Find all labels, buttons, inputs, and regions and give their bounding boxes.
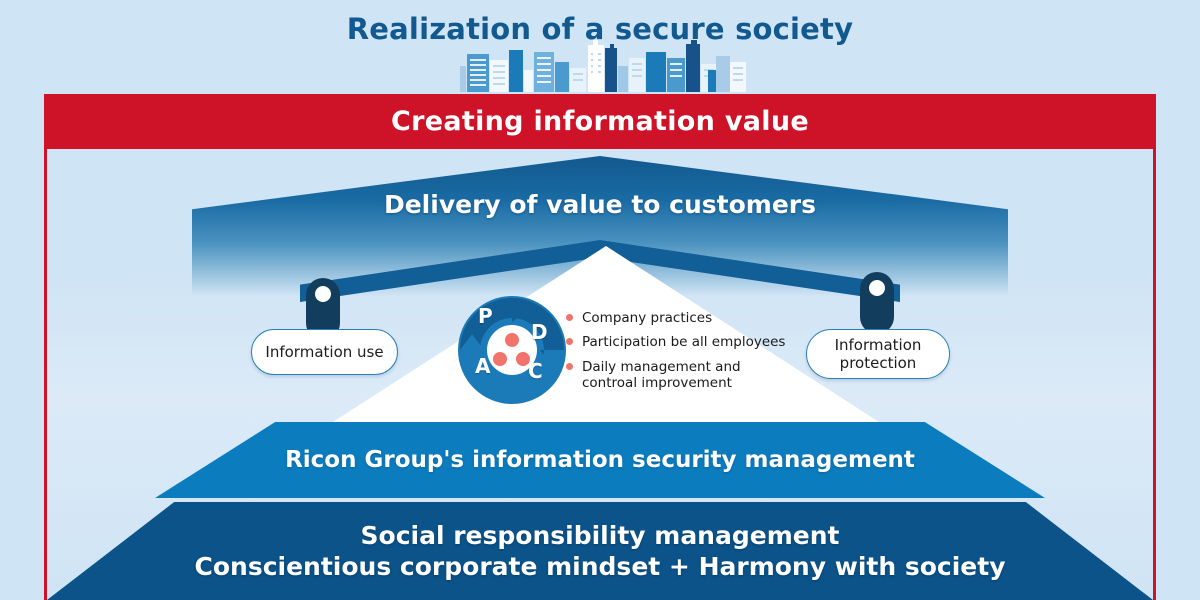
list-item: Company practices <box>566 310 786 326</box>
social-responsibility-line2: Conscientious corporate mindset + Harmon… <box>195 552 1006 581</box>
infographic-canvas: Realization of a secure society <box>0 0 1200 600</box>
right-pin-icon <box>860 272 894 334</box>
pin-hole-left <box>315 286 331 302</box>
cityscape-skyline-icon <box>460 44 740 92</box>
layer-social-responsibility: Social responsibility management Conscie… <box>47 502 1153 600</box>
information-use-text: Information use <box>265 343 383 361</box>
pdca-bullet-list: Company practices Participation be all e… <box>566 310 786 400</box>
pin-hole-right <box>869 280 885 296</box>
security-management-label: Ricon Group's information security manag… <box>285 447 915 473</box>
page-title: Realization of a secure society <box>0 12 1200 46</box>
pdca-letter-a: A <box>475 354 490 378</box>
pdca-letter-c: C <box>528 359 543 383</box>
layer-security-management: Ricon Group's information security manag… <box>155 422 1045 498</box>
list-item: Participation be all employees <box>566 334 786 350</box>
banner-label: Creating information value <box>391 106 809 137</box>
pdca-cycle-diagram: P D C A <box>458 296 566 404</box>
pdca-letter-p: P <box>478 304 493 328</box>
delivery-of-value-label: Delivery of value to customers <box>192 190 1008 219</box>
pdca-letter-d: D <box>531 320 548 344</box>
information-protection-line1: Information <box>835 336 922 354</box>
social-responsibility-line1: Social responsibility management <box>361 521 840 550</box>
label-information-use[interactable]: Information use <box>251 329 398 375</box>
pdca-arrows-icon <box>458 296 566 404</box>
creating-information-value-banner: Creating information value <box>44 94 1156 149</box>
label-information-protection[interactable]: Information protection <box>806 329 950 379</box>
list-item: Daily management and controal improvemen… <box>566 359 786 392</box>
information-protection-line2: protection <box>840 354 917 372</box>
